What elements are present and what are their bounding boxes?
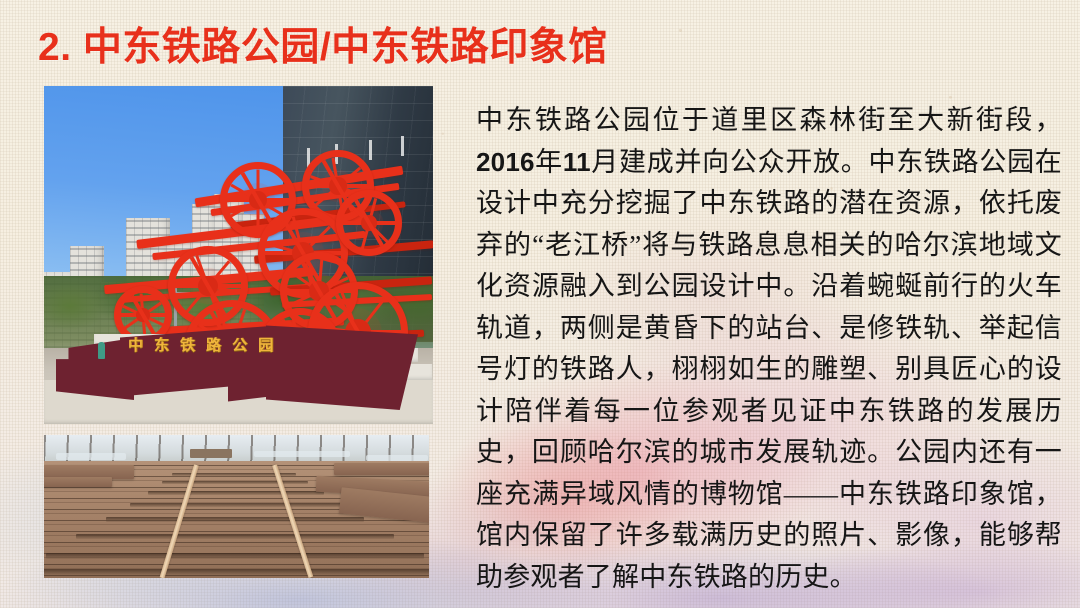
monument-char: 中 <box>128 338 143 353</box>
track-snow-patch <box>366 455 428 461</box>
wheel-spoke <box>257 169 260 231</box>
slide-root: 2. 中东铁路公园/中东铁路印象馆 <box>0 0 1080 608</box>
monument-char: 园 <box>258 338 273 353</box>
body-paragraph: 中东铁路公园位于道里区森林街至大新街段，2016年11月建成并向公众开放。中东铁… <box>476 100 1062 598</box>
body-text-run: 月建成并向公众开放。中东铁路公园在设计中充分挖掘了中东铁路的潜在资源，依托废弃的… <box>476 147 1062 592</box>
body-copy: 中东铁路公园位于道里区森林街至大新街段，2016年11月建成并向公众开放。中东铁… <box>476 100 1062 598</box>
track-sleeper <box>76 534 394 539</box>
page-title: 2. 中东铁路公园/中东铁路印象馆 <box>38 16 608 72</box>
monument-char: 公 <box>232 338 247 353</box>
wheel-hub <box>361 215 377 231</box>
wheel-hub <box>198 276 218 296</box>
track-sleeper <box>46 553 424 559</box>
monument-wall-right <box>266 322 418 410</box>
track-distant-bench <box>190 449 232 458</box>
wheel-spoke <box>350 204 389 243</box>
track-sleeper <box>148 491 324 495</box>
pedestrian <box>98 342 105 359</box>
monument-char: 铁 <box>180 338 195 353</box>
monument-name-plate: 中 东 铁 路 公 园 <box>128 338 273 353</box>
sculpture-wheel <box>336 190 402 256</box>
track-snow-patch <box>56 453 126 460</box>
track-sleeper <box>162 481 308 484</box>
wheel-spoke <box>140 293 147 337</box>
body-text-run: 年 <box>535 147 563 177</box>
wheel-hub <box>329 177 346 194</box>
track-side-slab-right <box>334 463 429 475</box>
track-sleeper <box>106 517 364 522</box>
body-emphasis: 2016 <box>476 147 535 177</box>
track-snow-patch <box>254 451 350 457</box>
photo-railway-track <box>44 435 429 578</box>
monument-char: 路 <box>206 338 221 353</box>
wheel-hub <box>249 191 268 210</box>
wheel-hub <box>136 308 149 321</box>
body-emphasis: 11 <box>563 147 591 177</box>
track-sleeper <box>44 569 429 575</box>
track-side-slab-left <box>44 477 112 487</box>
monument-char: 东 <box>154 338 169 353</box>
body-text-run: 中东铁路公园位于道里区森林街至大新街段， <box>476 105 1062 135</box>
track-sleeper <box>130 503 342 507</box>
photo-sculpture: 中 东 铁 路 公 园 <box>44 86 433 424</box>
